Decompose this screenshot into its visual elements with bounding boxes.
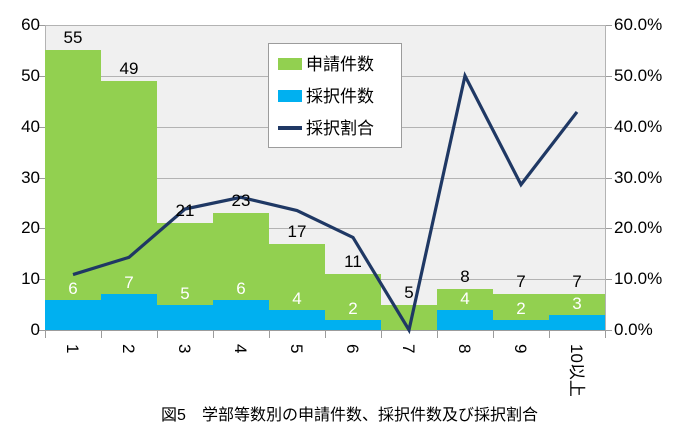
- label-adoptions-value: 2: [325, 300, 381, 317]
- label-applications-value: 11: [325, 253, 381, 270]
- label-applications-value: 7: [549, 273, 605, 290]
- legend-label-applications: 申請件数: [306, 55, 374, 74]
- label-adoptions-value: 6: [45, 280, 101, 297]
- label-applications-value: 5: [381, 284, 437, 301]
- legend-label-ratio: 採択割合: [306, 119, 374, 138]
- label-adoptions-value: 6: [213, 280, 269, 297]
- label-adoptions-value: 2: [493, 300, 549, 317]
- label-applications-value: 55: [45, 29, 101, 46]
- label-applications-value: 17: [269, 223, 325, 240]
- label-applications-value: 8: [437, 268, 493, 285]
- figure-caption: 図5 学部等数別の申請件数、採択件数及び採択割合: [0, 406, 699, 426]
- label-adoptions-value: 3: [549, 295, 605, 312]
- label-applications-value: 23: [213, 192, 269, 209]
- label-applications-value: 7: [493, 273, 549, 290]
- legend-label-adoptions: 採択件数: [306, 87, 374, 106]
- green-square-icon: [278, 58, 302, 70]
- navy-line-icon: [278, 126, 302, 130]
- legend-item-adoptions: 採択件数: [278, 83, 374, 109]
- chart-legend: 申請件数 採択件数 採択割合: [268, 43, 402, 148]
- label-adoptions-value: 7: [101, 274, 157, 291]
- figure-container: 0102030405060 0.0%10.0%20.0%30.0%40.0%50…: [0, 0, 699, 437]
- label-applications-value: 21: [157, 202, 213, 219]
- label-applications-value: 49: [101, 60, 157, 77]
- label-adoptions-value: 4: [269, 290, 325, 307]
- chart-area: 0102030405060 0.0%10.0%20.0%30.0%40.0%50…: [0, 0, 699, 400]
- legend-item-ratio: 採択割合: [278, 115, 374, 141]
- blue-square-icon: [278, 90, 302, 102]
- label-adoptions-value: 4: [437, 290, 493, 307]
- legend-item-applications: 申請件数: [278, 51, 374, 77]
- label-adoptions-value: 5: [157, 285, 213, 302]
